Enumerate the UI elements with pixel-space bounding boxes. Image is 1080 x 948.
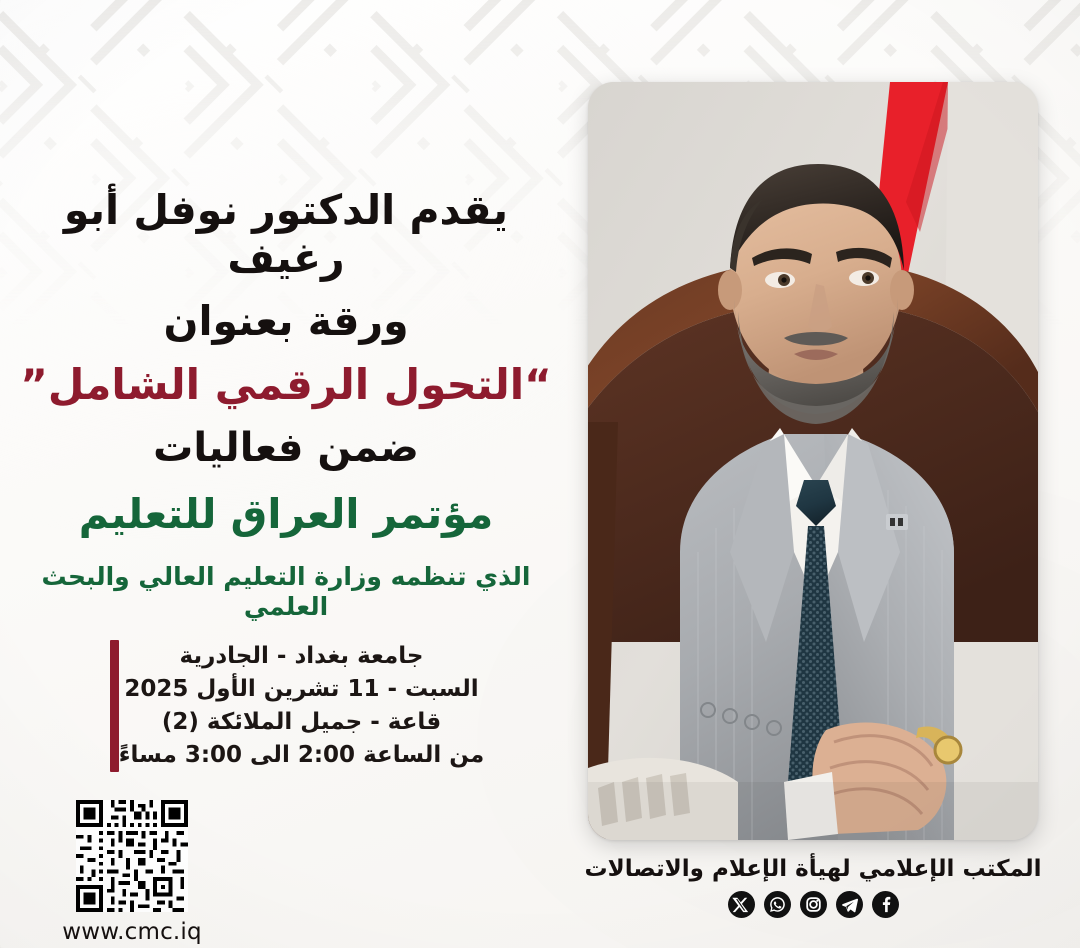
qr-block[interactable]: www.cmc.iq bbox=[62, 800, 202, 945]
telegram-icon[interactable] bbox=[836, 891, 863, 918]
poster-root: يقدم الدكتور نوفل أبو رغيف ورقة بعنوان “… bbox=[0, 0, 1080, 948]
venue-date: السبت - 11 تشرين الأول 2025 bbox=[119, 673, 484, 706]
speaker-photo bbox=[588, 82, 1038, 840]
venue-location: جامعة بغداد - الجادرية bbox=[119, 640, 484, 673]
footer: المكتب الإعلامي لهيأة الإعلام والاتصالات bbox=[588, 856, 1038, 918]
media-office-text: المكتب الإعلامي لهيأة الإعلام والاتصالات bbox=[584, 856, 1041, 882]
whatsapp-icon[interactable] bbox=[764, 891, 791, 918]
venue-block: جامعة بغداد - الجادرية السبت - 11 تشرين … bbox=[0, 640, 572, 772]
venue-lines: جامعة بغداد - الجادرية السبت - 11 تشرين … bbox=[119, 640, 484, 772]
presenter-line: يقدم الدكتور نوفل أبو رغيف bbox=[26, 186, 546, 283]
x-icon[interactable] bbox=[728, 891, 755, 918]
website-url[interactable]: www.cmc.iq bbox=[62, 919, 202, 945]
paper-title: “التحول الرقمي الشامل” bbox=[20, 361, 551, 409]
social-links bbox=[728, 891, 899, 918]
venue-time: من الساعة 2:00 الى 3:00 مساءً bbox=[119, 739, 484, 772]
venue-hall: قاعة - جميل الملائكة (2) bbox=[119, 706, 484, 739]
qr-code[interactable] bbox=[76, 800, 188, 912]
instagram-icon[interactable] bbox=[800, 891, 827, 918]
paper-intro-line: ورقة بعنوان bbox=[163, 297, 408, 345]
facebook-icon[interactable] bbox=[872, 891, 899, 918]
conference-title: مؤتمر العراق للتعليم bbox=[79, 491, 493, 538]
within-events-line: ضمن فعاليات bbox=[153, 425, 419, 472]
organizer-line: الذي تنظمه وزارة التعليم العالي والبحث ا… bbox=[16, 562, 556, 622]
maroon-accent-rule bbox=[110, 640, 119, 772]
